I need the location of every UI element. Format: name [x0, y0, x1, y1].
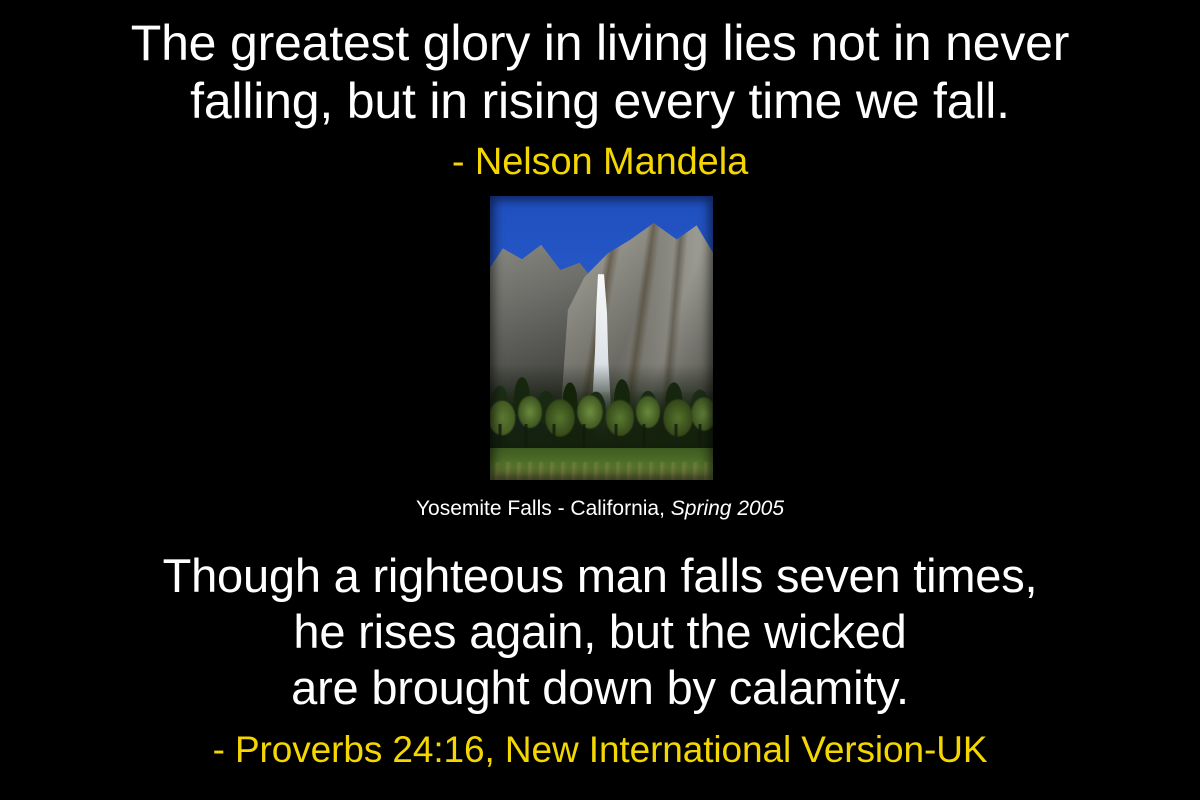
photo-caption-location: Yosemite Falls - California,	[416, 497, 671, 520]
top-quote-attribution: - Nelson Mandela	[0, 140, 1200, 184]
photo-meadow-grass-texture	[490, 462, 713, 480]
bottom-quote-text: Though a righteous man falls seven times…	[0, 548, 1200, 716]
top-quote-text: The greatest glory in living lies not in…	[0, 14, 1200, 130]
yosemite-falls-photo	[490, 196, 713, 480]
photo-caption-season: Spring 2005	[671, 497, 784, 520]
quote-poster: The greatest glory in living lies not in…	[0, 0, 1200, 800]
bottom-quote-attribution: - Proverbs 24:16, New International Vers…	[0, 728, 1200, 772]
photo-caption: Yosemite Falls - California, Spring 2005	[0, 496, 1200, 522]
